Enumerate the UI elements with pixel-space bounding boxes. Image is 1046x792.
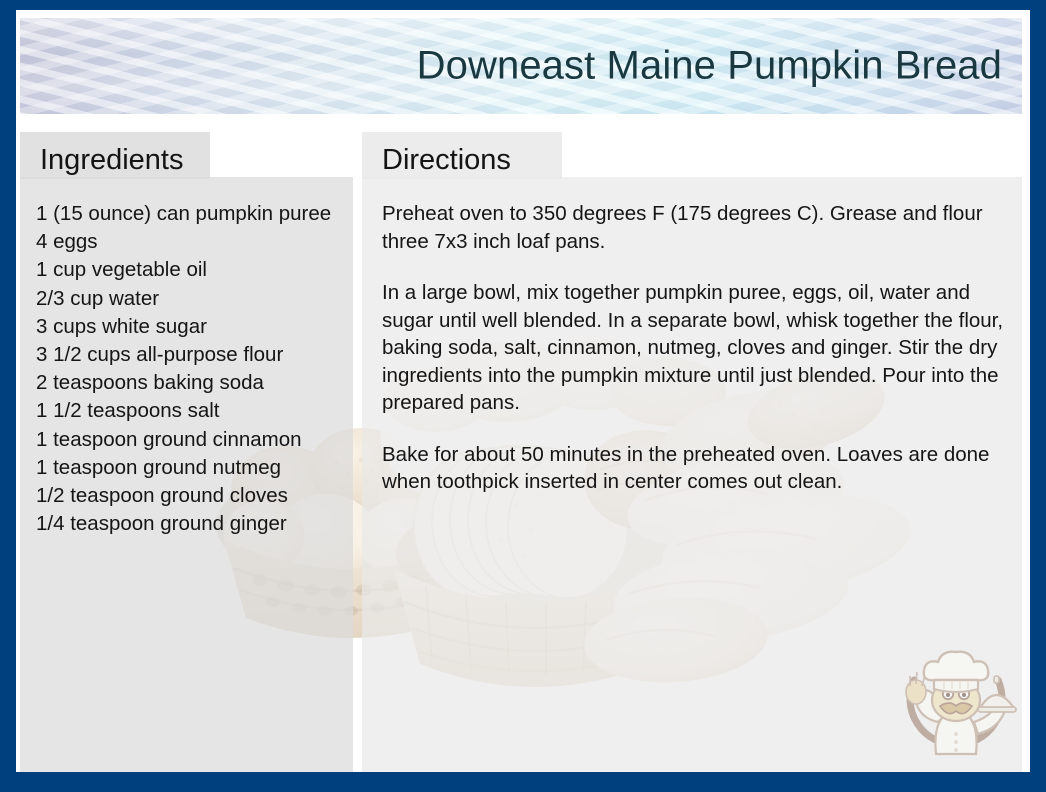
recipe-page: Downeast Maine Pumpkin Bread <box>16 10 1030 772</box>
ingredient-item: 1 teaspoon ground cinnamon <box>36 426 356 454</box>
ingredients-list: 1 (15 ounce) can pumpkin puree 4 eggs 1 … <box>36 200 356 538</box>
directions-paragraph: Preheat oven to 350 degrees F (175 degre… <box>382 200 1022 255</box>
ingredient-item: 4 eggs <box>36 228 356 256</box>
directions-heading-box: Directions <box>362 132 562 179</box>
ingredient-item: 2 teaspoons baking soda <box>36 369 356 397</box>
directions-heading: Directions <box>382 144 511 177</box>
recipe-card: Downeast Maine Pumpkin Bread <box>0 0 1046 792</box>
ingredients-heading: Ingredients <box>40 144 184 177</box>
directions-body: Preheat oven to 350 degrees F (175 degre… <box>382 200 1022 496</box>
ingredient-item: 3 1/2 cups all-purpose flour <box>36 341 356 369</box>
page-title: Downeast Maine Pumpkin Bread <box>417 44 1002 89</box>
ingredient-item: 3 cups white sugar <box>36 313 356 341</box>
directions-paragraph: Bake for about 50 minutes in the preheat… <box>382 441 1022 496</box>
ingredients-heading-box: Ingredients <box>20 132 210 179</box>
title-banner: Downeast Maine Pumpkin Bread <box>20 18 1022 114</box>
ingredient-item: 1 teaspoon ground nutmeg <box>36 454 356 482</box>
ingredient-item: 1 (15 ounce) can pumpkin puree <box>36 200 356 228</box>
chef-logo-icon <box>892 636 1020 758</box>
directions-paragraph: In a large bowl, mix together pumpkin pu… <box>382 279 1022 417</box>
ingredient-item: 2/3 cup water <box>36 285 356 313</box>
ingredient-item: 1/4 teaspoon ground ginger <box>36 510 356 538</box>
ingredient-item: 1 cup vegetable oil <box>36 256 356 284</box>
ingredient-item: 1 1/2 teaspoons salt <box>36 397 356 425</box>
ingredient-item: 1/2 teaspoon ground cloves <box>36 482 356 510</box>
